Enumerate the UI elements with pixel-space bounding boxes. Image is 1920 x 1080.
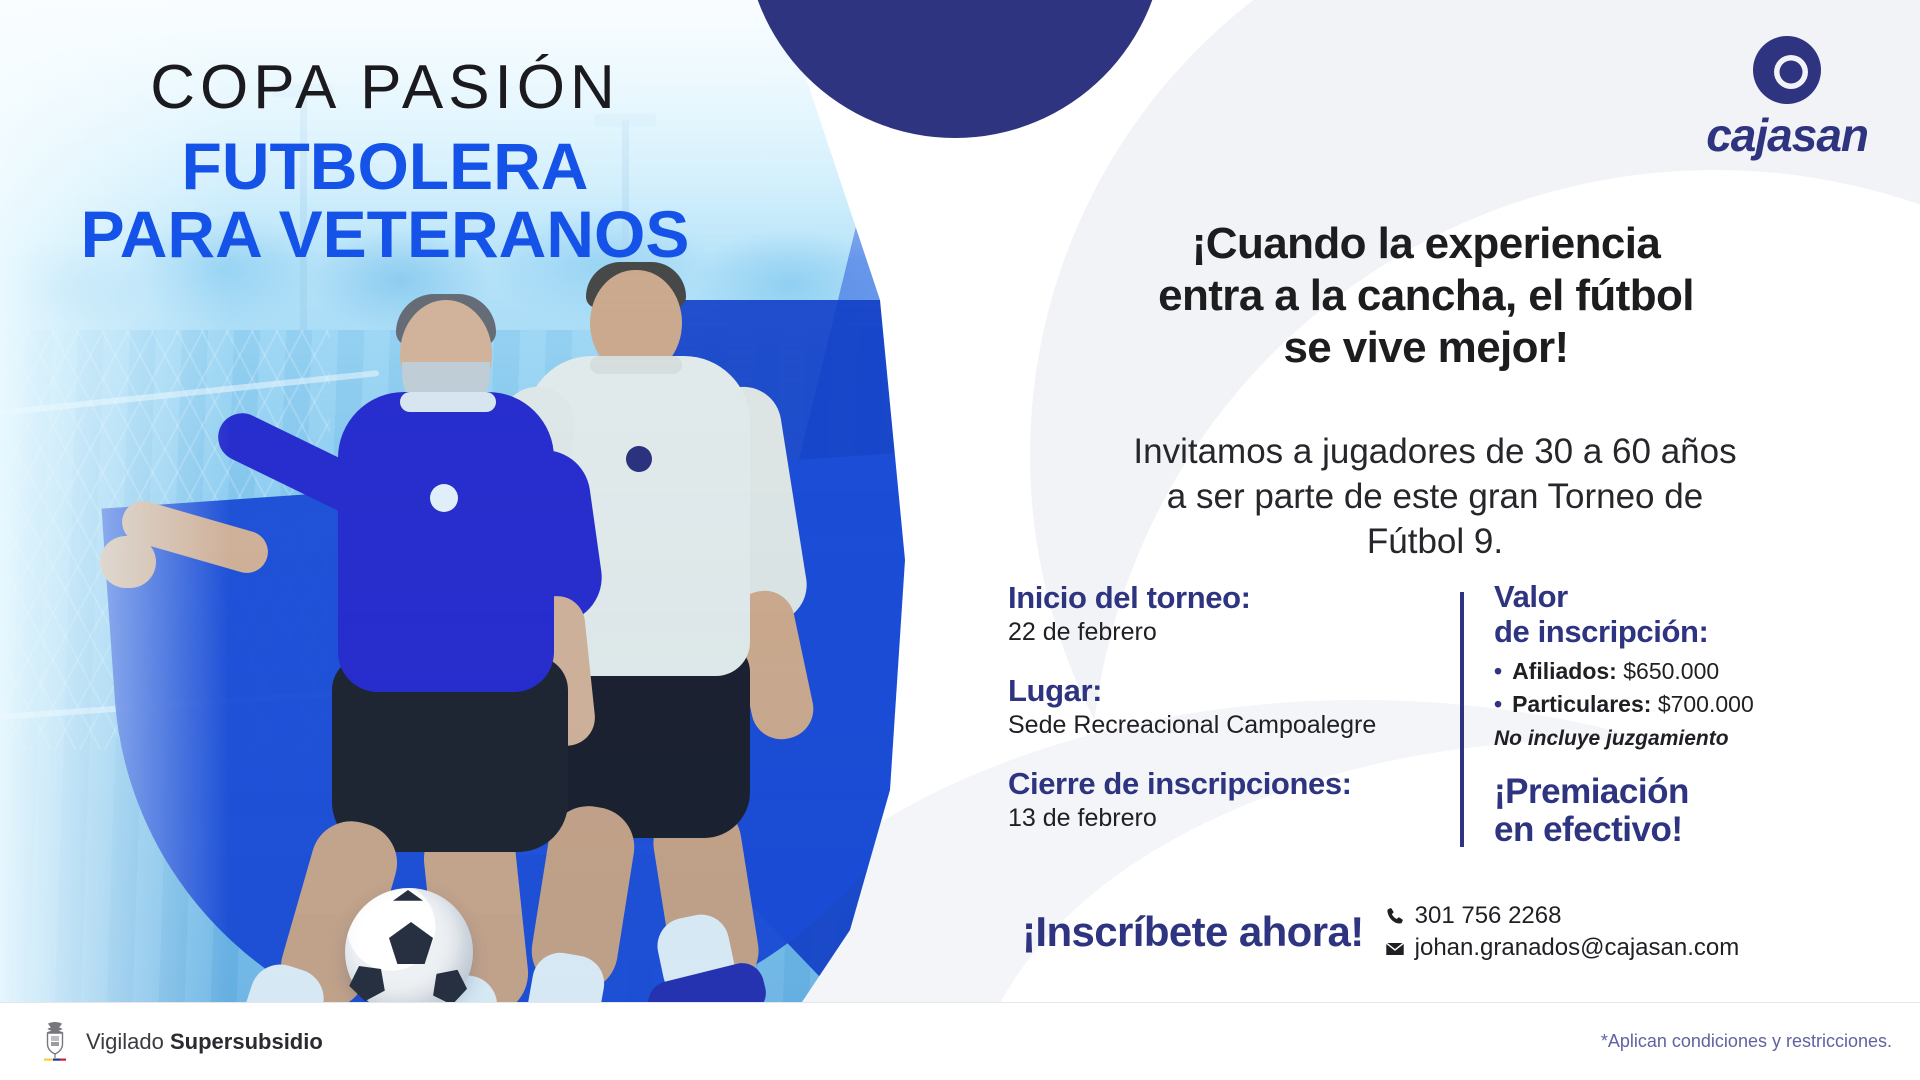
price-note: No incluye juzgamiento: [1494, 727, 1920, 751]
price-list: • Afiliados: $650.000 • Particulares: $7…: [1494, 655, 1920, 720]
supervision-text: Vigilado Supersubsidio: [86, 1029, 323, 1055]
price-row-text: Particulares: $700.000: [1512, 688, 1754, 721]
headline: ¡Cuando la experiencia entra a la cancha…: [960, 218, 1892, 374]
content-panel: cajasan ¡Cuando la experiencia entra a l…: [960, 0, 1920, 1005]
poster-canvas: COPA PASIÓN FUTBOLERA PARA VETERANOS caj…: [0, 0, 1920, 1080]
envelope-icon: [1384, 937, 1406, 959]
price-row-text: Afiliados: $650.000: [1512, 655, 1719, 688]
price-column: Valor de inscripción: • Afiliados: $650.…: [1464, 580, 1920, 850]
start-label: Inicio del torneo:: [1008, 580, 1460, 616]
email-address: johan.granados@cajasan.com: [1415, 932, 1740, 964]
supervision-entity: Supersubsidio: [170, 1029, 323, 1054]
cta-section: ¡Inscríbete ahora! 301 756 2268: [1022, 900, 1739, 963]
jersey-logo-icon: [430, 484, 458, 512]
ball-panel: [389, 922, 433, 964]
price-label-line-1: Valor: [1494, 580, 1920, 615]
register-cta-label[interactable]: ¡Inscríbete ahora!: [1022, 908, 1364, 956]
prize-line-1: ¡Premiación: [1494, 773, 1920, 812]
cajasan-logo: cajasan: [1706, 34, 1868, 162]
price-name: Particulares:: [1512, 691, 1651, 717]
schedule-column: Inicio del torneo: 22 de febrero Lugar: …: [960, 580, 1460, 850]
close-label: Cierre de inscripciones:: [1008, 766, 1460, 802]
jersey-logo-icon: [626, 446, 652, 472]
terms-note: *Aplican condiciones y restricciones.: [1601, 1031, 1892, 1052]
supervision-badge: Vigilado Supersubsidio: [38, 1020, 323, 1064]
contact-info: 301 756 2268 johan.granados@cajasan.com: [1384, 900, 1740, 963]
bullet-icon: •: [1494, 655, 1502, 688]
invitation-line-2: a ser parte de este gran Torneo de: [990, 475, 1880, 520]
colombia-coat-of-arms-icon: [38, 1020, 72, 1064]
invitation-text: Invitamos a jugadores de 30 a 60 años a …: [990, 430, 1880, 564]
price-label-line-2: de inscripción:: [1494, 615, 1920, 650]
list-item: • Afiliados: $650.000: [1494, 655, 1920, 688]
price-name: Afiliados:: [1512, 658, 1617, 684]
prize-callout: ¡Premiación en efectivo!: [1494, 773, 1920, 850]
spacer: [1008, 647, 1460, 673]
player-jersey: [338, 392, 554, 692]
invitation-line-3: Fútbol 9.: [990, 520, 1880, 565]
spacer: [1008, 740, 1460, 766]
supervision-prefix: Vigilado: [86, 1029, 170, 1054]
player-blue-shirt: [100, 300, 570, 1000]
price-label: Valor de inscripción:: [1494, 580, 1920, 649]
list-item: • Particulares: $700.000: [1494, 688, 1920, 721]
player-collar: [400, 392, 496, 412]
headline-line-3: se vive mejor!: [960, 322, 1892, 374]
cajasan-wordmark: cajasan: [1706, 108, 1868, 162]
title-line-3: PARA VETERANOS: [0, 201, 770, 269]
footer-bar: Vigilado Supersubsidio *Aplican condicio…: [0, 1002, 1920, 1080]
title-line-1: COPA PASIÓN: [0, 52, 770, 123]
place-label: Lugar:: [1008, 673, 1460, 709]
price-amount: $650.000: [1623, 658, 1719, 684]
phone-row[interactable]: 301 756 2268: [1384, 900, 1740, 932]
player-collar: [590, 356, 682, 374]
phone-icon: [1384, 905, 1406, 927]
place-value: Sede Recreacional Campoalegre: [1008, 711, 1460, 740]
headline-line-2: entra a la cancha, el fútbol: [960, 270, 1892, 322]
headline-line-1: ¡Cuando la experiencia: [960, 218, 1892, 270]
ball-panel: [393, 890, 423, 908]
invitation-line-1: Invitamos a jugadores de 30 a 60 años: [990, 430, 1880, 475]
poster-title: COPA PASIÓN FUTBOLERA PARA VETERANOS: [0, 52, 770, 269]
bullet-icon: •: [1494, 688, 1502, 721]
phone-number: 301 756 2268: [1415, 900, 1562, 932]
start-value: 22 de febrero: [1008, 618, 1460, 647]
title-line-2: FUTBOLERA: [0, 133, 770, 201]
prize-line-2: en efectivo!: [1494, 811, 1920, 850]
player-hand: [100, 536, 156, 588]
close-value: 13 de febrero: [1008, 804, 1460, 833]
email-row[interactable]: johan.granados@cajasan.com: [1384, 932, 1740, 964]
details-section: Inicio del torneo: 22 de febrero Lugar: …: [960, 580, 1920, 850]
soccer-ball-icon: [345, 888, 473, 1005]
price-amount: $700.000: [1658, 691, 1754, 717]
cajasan-circle-logo-icon: [1751, 34, 1823, 106]
